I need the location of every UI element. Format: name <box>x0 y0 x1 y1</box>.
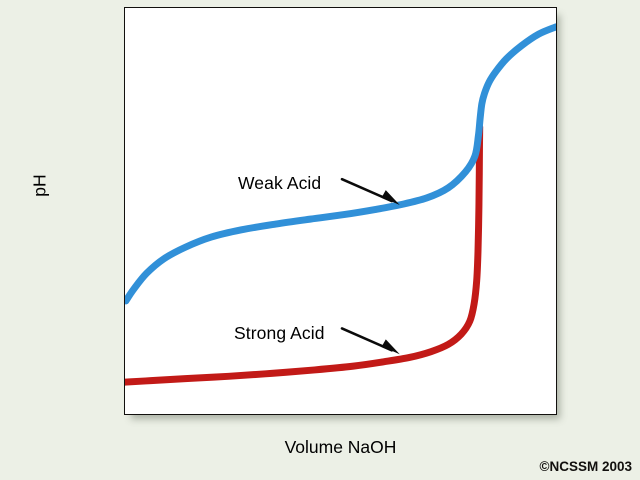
titration-curves-svg <box>125 8 556 414</box>
strong-acid-arrow <box>342 328 400 354</box>
x-axis-title: Volume NaOH <box>124 437 557 458</box>
strong-acid-label: Strong Acid <box>234 325 325 343</box>
copyright-notice: ©NCSSM 2003 <box>540 459 632 474</box>
weak-acid-curve <box>126 27 556 301</box>
weak-acid-arrow <box>342 179 400 205</box>
weak-acid-label: Weak Acid <box>238 175 321 193</box>
y-axis-title: pH <box>30 156 51 216</box>
figure-canvas: Weak Acid Strong Acid pH Volume NaOH ©NC… <box>0 0 640 480</box>
strong-acid-arrow-head <box>382 339 400 354</box>
curve-group <box>125 27 556 382</box>
weak-acid-arrow-head <box>382 190 400 205</box>
plot-panel: Weak Acid Strong Acid <box>124 7 557 415</box>
